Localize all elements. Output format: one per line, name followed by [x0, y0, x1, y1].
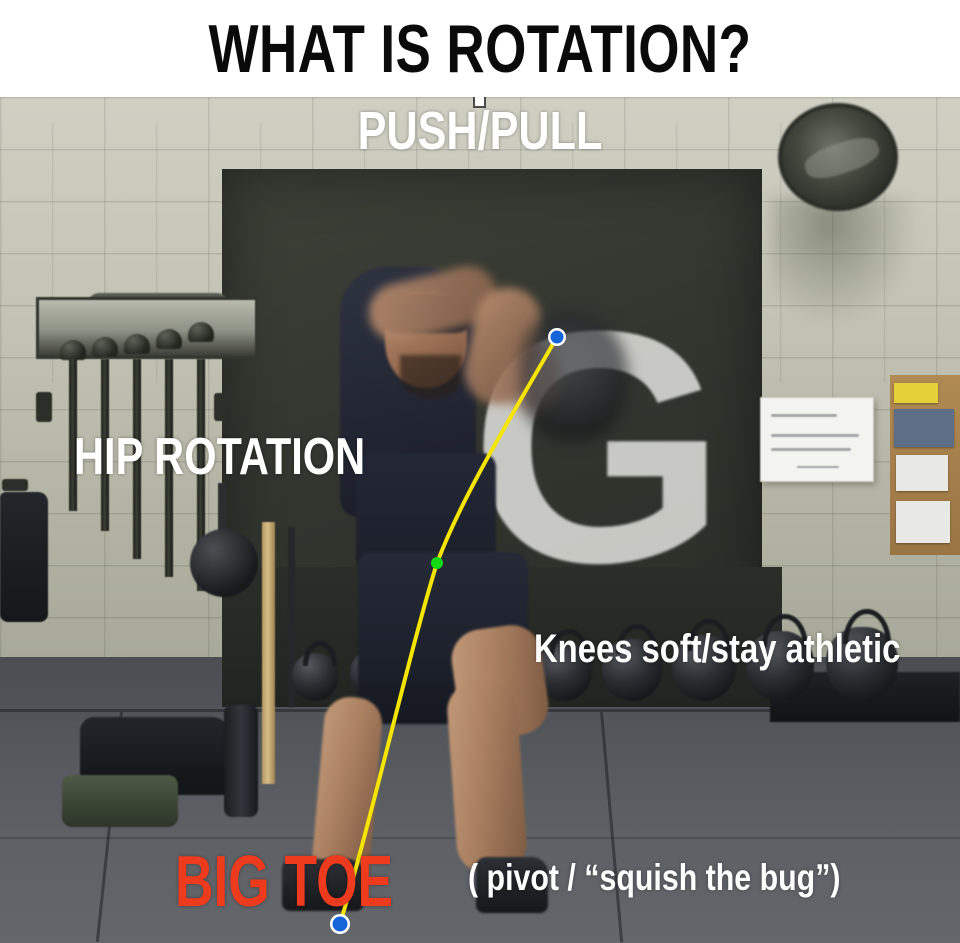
gym-photo: G [0, 97, 960, 943]
page-title: WHAT IS ROTATION? [209, 14, 752, 84]
label-knees-soft: Knees soft/stay athletic [534, 628, 900, 670]
label-big-toe-note: ( pivot / “squish the bug”) [468, 858, 840, 898]
hip-rotation-marker [431, 557, 443, 569]
title-banner: WHAT IS ROTATION? [0, 0, 960, 97]
label-big-toe: BIG TOE [175, 845, 393, 919]
label-push-pull: PUSH/PULL [358, 103, 603, 159]
label-hip-rotation: HIP ROTATION [74, 430, 365, 484]
push-pull-marker [551, 331, 564, 344]
anchor-markers [0, 97, 960, 943]
annotation-overlay: PUSH/PULL HIP ROTATION Knees soft/stay a… [0, 97, 960, 943]
meme-image: WHAT IS ROTATION? G [0, 0, 960, 943]
